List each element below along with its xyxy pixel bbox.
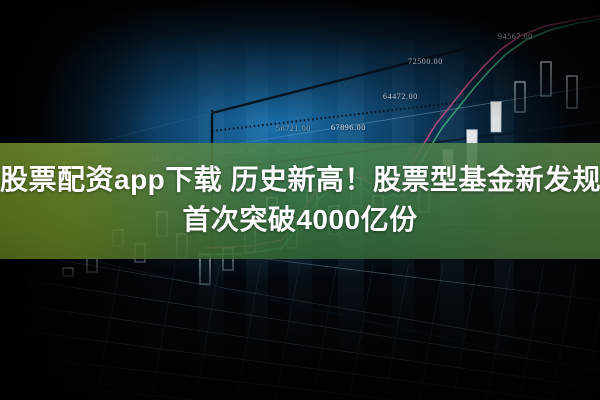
page-title: 股票配资app下载 历史新高！股票型基金新发规模 首次突破4000亿份	[0, 160, 600, 240]
banner-image: 94567.0072500.0064472.0067896.0056721.00…	[0, 0, 600, 400]
headline-line-2: 首次突破4000亿份	[0, 200, 600, 240]
headline-line-1: 股票配资app下载 历史新高！股票型基金新发规模	[0, 164, 600, 195]
